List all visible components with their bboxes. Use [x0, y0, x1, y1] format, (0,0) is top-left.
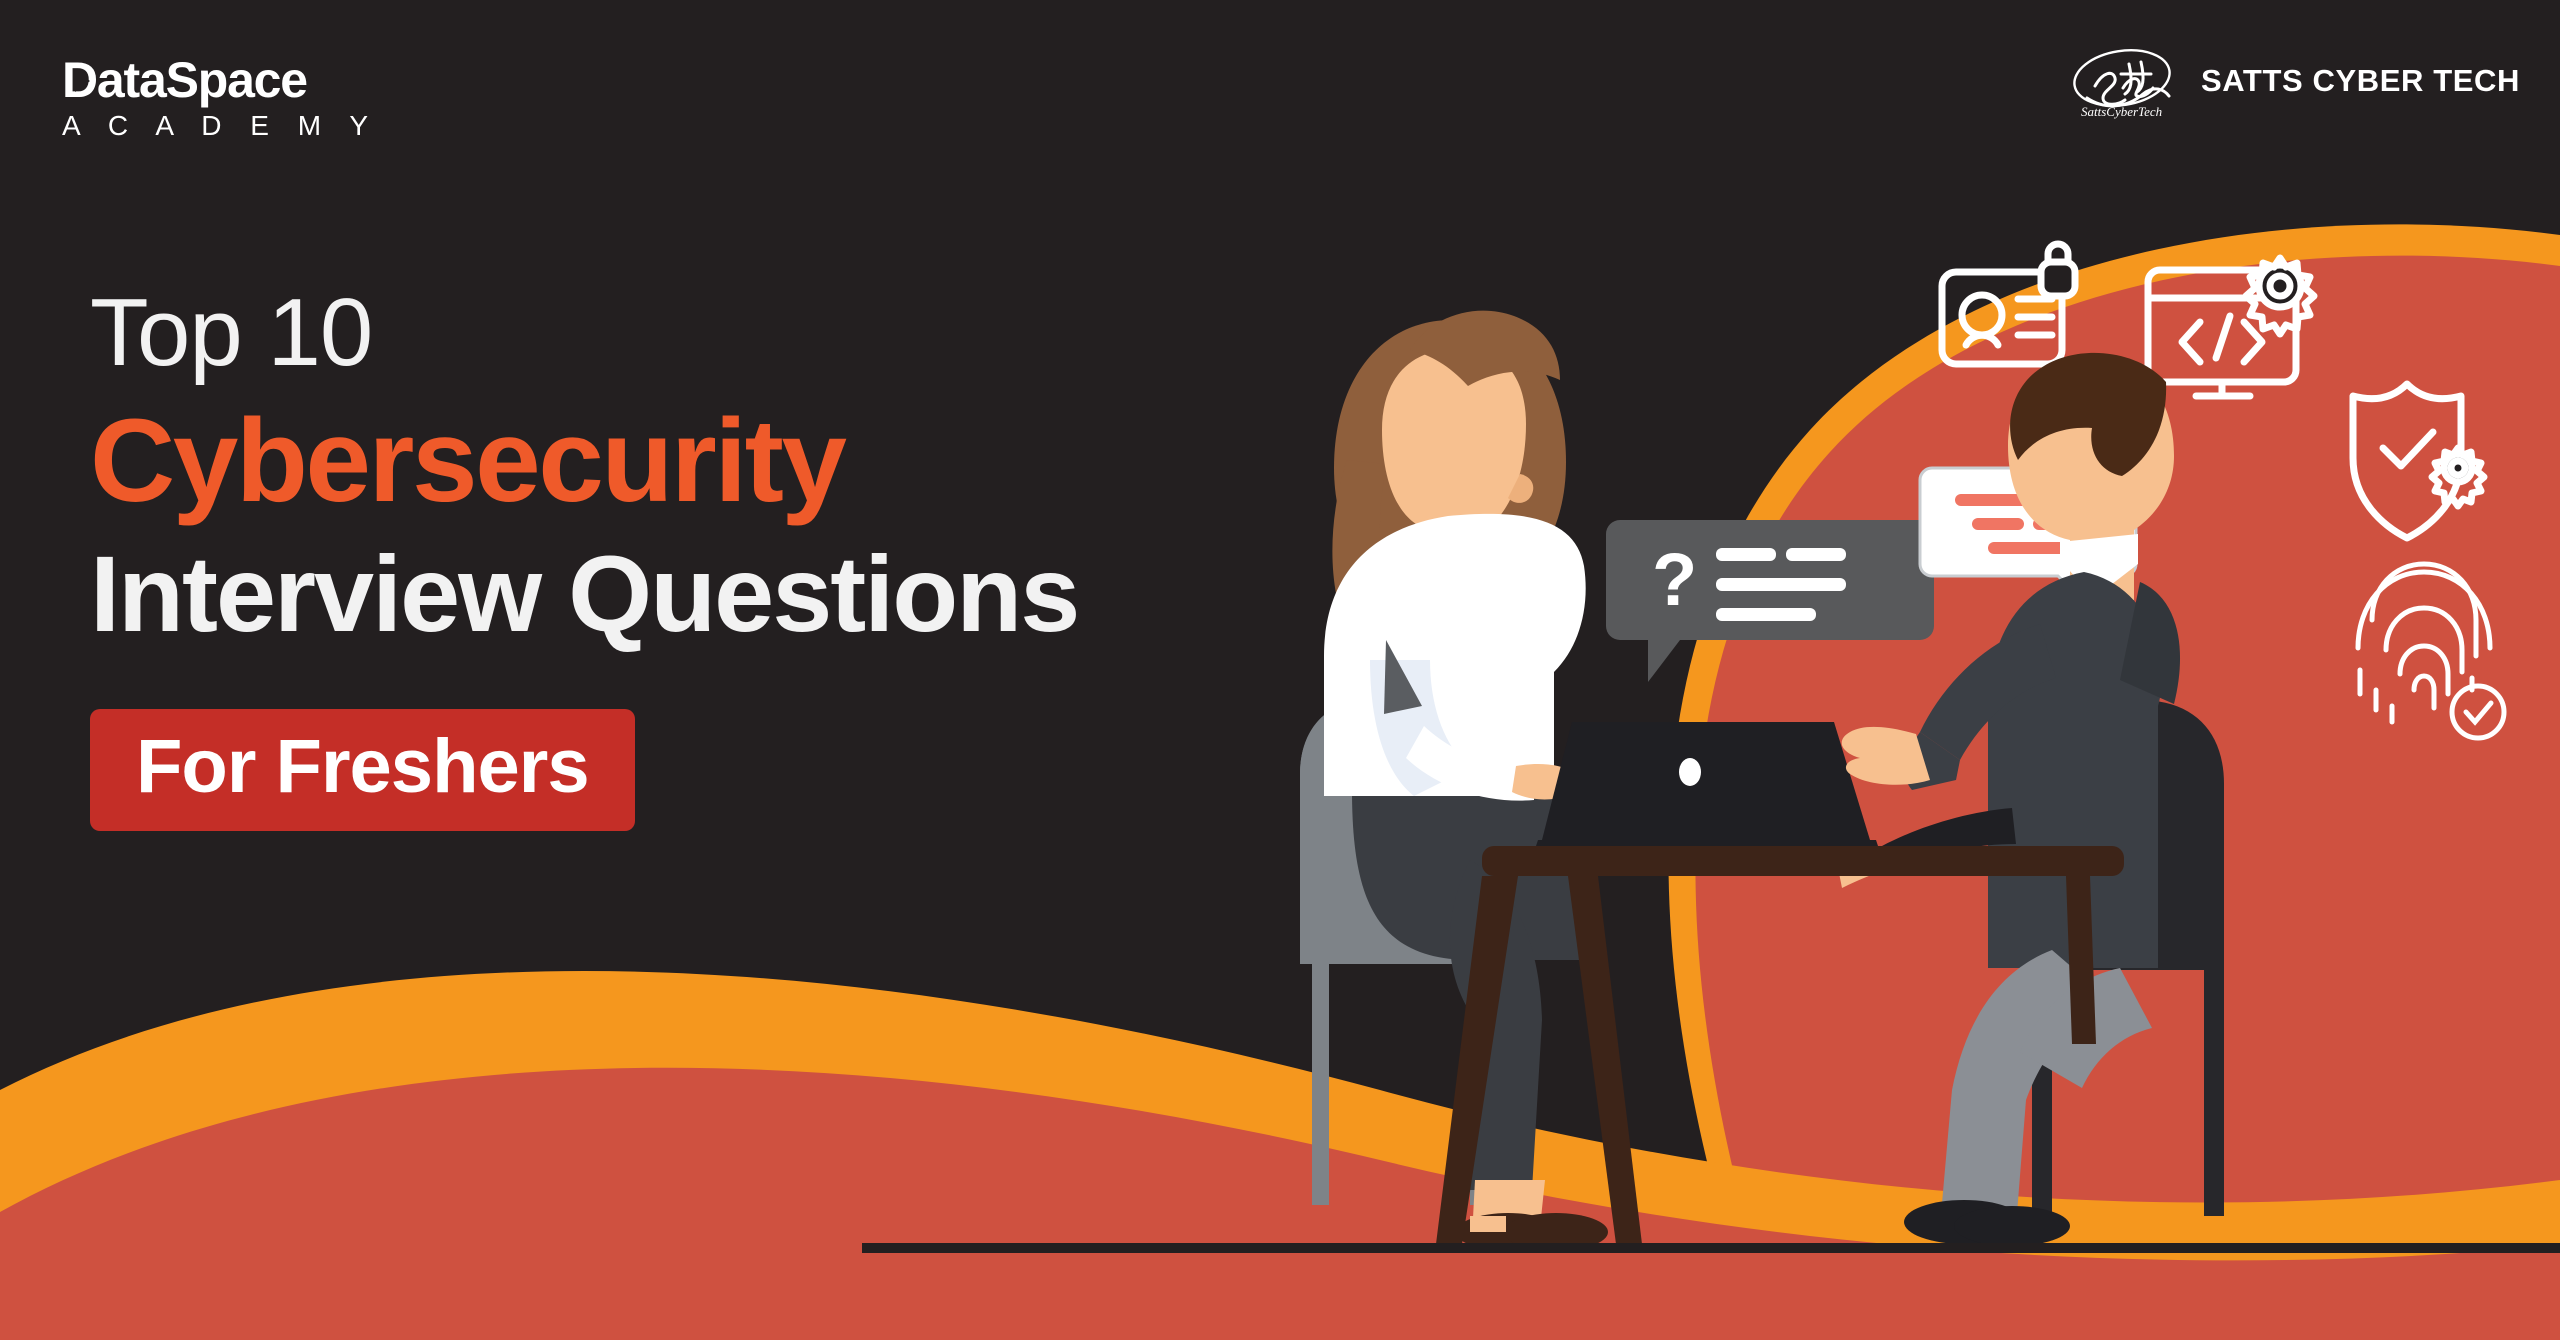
- for-freshers-badge: For Freshers: [90, 709, 635, 831]
- dataspace-academy-logo[interactable]: Data Space A C A D E M Y: [62, 55, 379, 140]
- headline-line-top10: Top 10: [90, 285, 1078, 381]
- satts-cyber-tech-logo[interactable]: SattsCyberTech SATTS CYBER TECH: [2067, 42, 2520, 120]
- satts-wordmark: SATTS CYBER TECH: [2201, 63, 2520, 99]
- logo-d-with-play-icon: Data: [62, 55, 166, 105]
- dataspace-wordmark: Data Space: [62, 55, 379, 105]
- laptop-screen: [1542, 722, 1870, 840]
- svg-text:?: ?: [1652, 538, 1697, 621]
- man-shoe-b: [1954, 1206, 2070, 1246]
- floor-line: [862, 1243, 2560, 1253]
- headline-line-cybersecurity: Cybersecurity: [90, 395, 1078, 527]
- satts-script-label: SattsCyberTech: [2081, 104, 2162, 119]
- chair-woman-leg-left: [1312, 960, 1329, 1205]
- laptop-logo: [1679, 758, 1701, 786]
- headline-block: Top 10 Cybersecurity Interview Questions…: [90, 285, 1078, 831]
- banner-root: ?: [0, 0, 2560, 1340]
- desk-top: [1482, 846, 2124, 876]
- logo-word-space: Space: [166, 55, 307, 105]
- play-triangle-icon: [75, 70, 90, 92]
- laptop: [1532, 722, 1882, 858]
- logo-word-academy: A C A D E M Y: [62, 112, 379, 140]
- satts-script-mark-icon: SattsCyberTech: [2067, 42, 2187, 120]
- chair-man-leg-right: [2204, 968, 2224, 1216]
- headline-line-interview-questions: Interview Questions: [90, 537, 1078, 650]
